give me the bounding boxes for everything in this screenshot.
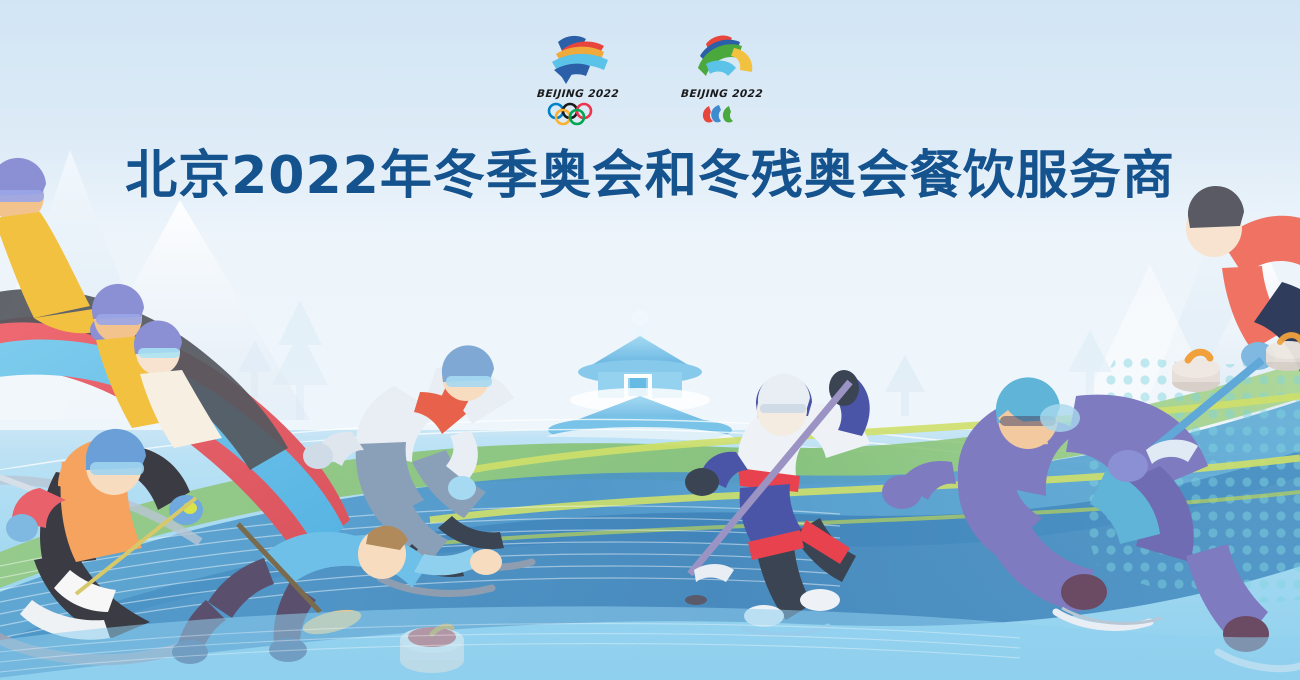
paralympic-emblem: BEIJING 2022 [676, 30, 768, 126]
emblem-group: BEIJING 2022 BEIJING 2022 [0, 30, 1300, 126]
page-title: 北京2022年冬季奥会和冬残奥会餐饮服务商 [0, 146, 1300, 206]
paralympic-emblem-mark [676, 30, 768, 86]
olympic-emblem: BEIJING 2022 [532, 30, 624, 126]
beijing-2022-banner: BEIJING 2022 BEIJING 2022 [0, 0, 1300, 680]
olympic-rings-icon [539, 102, 617, 126]
olympic-wordmark: BEIJING 2022 [537, 88, 620, 100]
agitos-icon [683, 102, 761, 126]
paralympic-wordmark: BEIJING 2022 [681, 88, 764, 100]
olympic-emblem-mark [532, 30, 624, 86]
